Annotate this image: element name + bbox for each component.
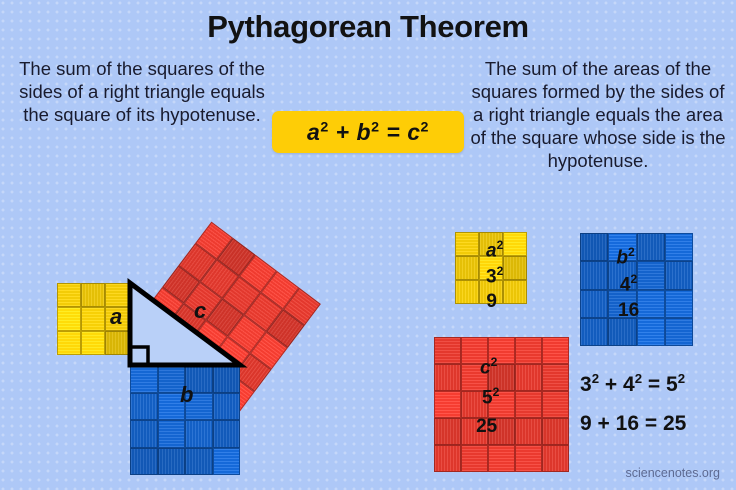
block-cell [637, 318, 665, 346]
block-cell [461, 391, 488, 418]
block-cell [461, 445, 488, 472]
block-cell [488, 391, 515, 418]
block-cell [130, 393, 158, 421]
block-cell [488, 337, 515, 364]
formula-b-exp: 2 [371, 119, 379, 135]
block-cell [213, 365, 241, 393]
block-cell [461, 364, 488, 391]
block-cell [213, 448, 241, 476]
legend-square-c-red [434, 337, 569, 472]
block-cell [503, 256, 527, 280]
block-cell [515, 391, 542, 418]
block-cell [479, 256, 503, 280]
formula-c-exp: 2 [421, 119, 429, 135]
block-cell [608, 261, 636, 289]
block-cell [479, 280, 503, 304]
formula-badge: a2 + b2 = c2 [272, 111, 464, 153]
formula-c: c [407, 119, 420, 145]
block-cell [608, 290, 636, 318]
block-cell [488, 418, 515, 445]
block-cell [488, 364, 515, 391]
block-cell [105, 331, 129, 355]
formula-text: a2 + b2 = c2 [307, 119, 429, 146]
block-cell [515, 445, 542, 472]
block-cell [434, 418, 461, 445]
block-cell [130, 448, 158, 476]
block-cell [665, 318, 693, 346]
equation-squared: 32 + 42 = 52 [580, 371, 685, 397]
block-cell [158, 448, 186, 476]
block-cell [185, 420, 213, 448]
block-cell [488, 445, 515, 472]
block-cell [57, 283, 81, 307]
diagram-label-a: a [110, 304, 122, 330]
page-title: Pythagorean Theorem [0, 9, 736, 45]
infographic-poster: Pythagorean Theorem The sum of the squar… [0, 0, 736, 490]
block-cell [580, 261, 608, 289]
diagram-label-c: c [194, 298, 206, 324]
block-cell [637, 261, 665, 289]
block-cell [515, 418, 542, 445]
block-cell [608, 233, 636, 261]
block-cell [81, 283, 105, 307]
block-cell [434, 445, 461, 472]
block-cell [213, 420, 241, 448]
formula-a: a [307, 119, 320, 145]
block-cell [580, 318, 608, 346]
block-cell [57, 307, 81, 331]
block-cell [542, 445, 569, 472]
block-cell [503, 280, 527, 304]
block-cell [665, 290, 693, 318]
block-cell [580, 233, 608, 261]
block-cell [455, 256, 479, 280]
block-cell [57, 331, 81, 355]
block-cell [461, 418, 488, 445]
block-cell [455, 232, 479, 256]
block-cell [213, 393, 241, 421]
equation-numeric: 9 + 16 = 25 [580, 412, 686, 436]
block-cell [542, 364, 569, 391]
legend-square-a-yellow [455, 232, 527, 304]
block-cell [665, 233, 693, 261]
block-cell [542, 418, 569, 445]
block-cell [637, 290, 665, 318]
legend-square-b-blue [580, 233, 693, 346]
block-cell [515, 364, 542, 391]
formula-equals: = [386, 119, 400, 145]
watermark: sciencenotes.org [625, 466, 720, 480]
block-cell [158, 420, 186, 448]
formula-b: b [357, 119, 372, 145]
block-cell [637, 233, 665, 261]
block-cell [185, 448, 213, 476]
block-cell [580, 290, 608, 318]
block-cell [608, 318, 636, 346]
block-cell [542, 391, 569, 418]
blurb-right-text: The sum of the areas of the squares form… [464, 57, 732, 172]
block-cell [81, 307, 105, 331]
block-cell [434, 337, 461, 364]
block-cell [542, 337, 569, 364]
block-cell [665, 261, 693, 289]
blurb-left-text: The sum of the squares of the sides of a… [8, 57, 276, 126]
block-cell [130, 420, 158, 448]
block-cell [461, 337, 488, 364]
formula-plus: + [336, 119, 350, 145]
block-cell [515, 337, 542, 364]
block-cell [81, 331, 105, 355]
block-cell [503, 232, 527, 256]
block-cell [455, 280, 479, 304]
block-cell [434, 391, 461, 418]
block-cell [434, 364, 461, 391]
block-cell [479, 232, 503, 256]
diagram-label-b: b [180, 382, 193, 408]
formula-a-exp: 2 [320, 119, 328, 135]
block-cell [130, 365, 158, 393]
pythagorean-diagram: a b c [0, 180, 420, 490]
